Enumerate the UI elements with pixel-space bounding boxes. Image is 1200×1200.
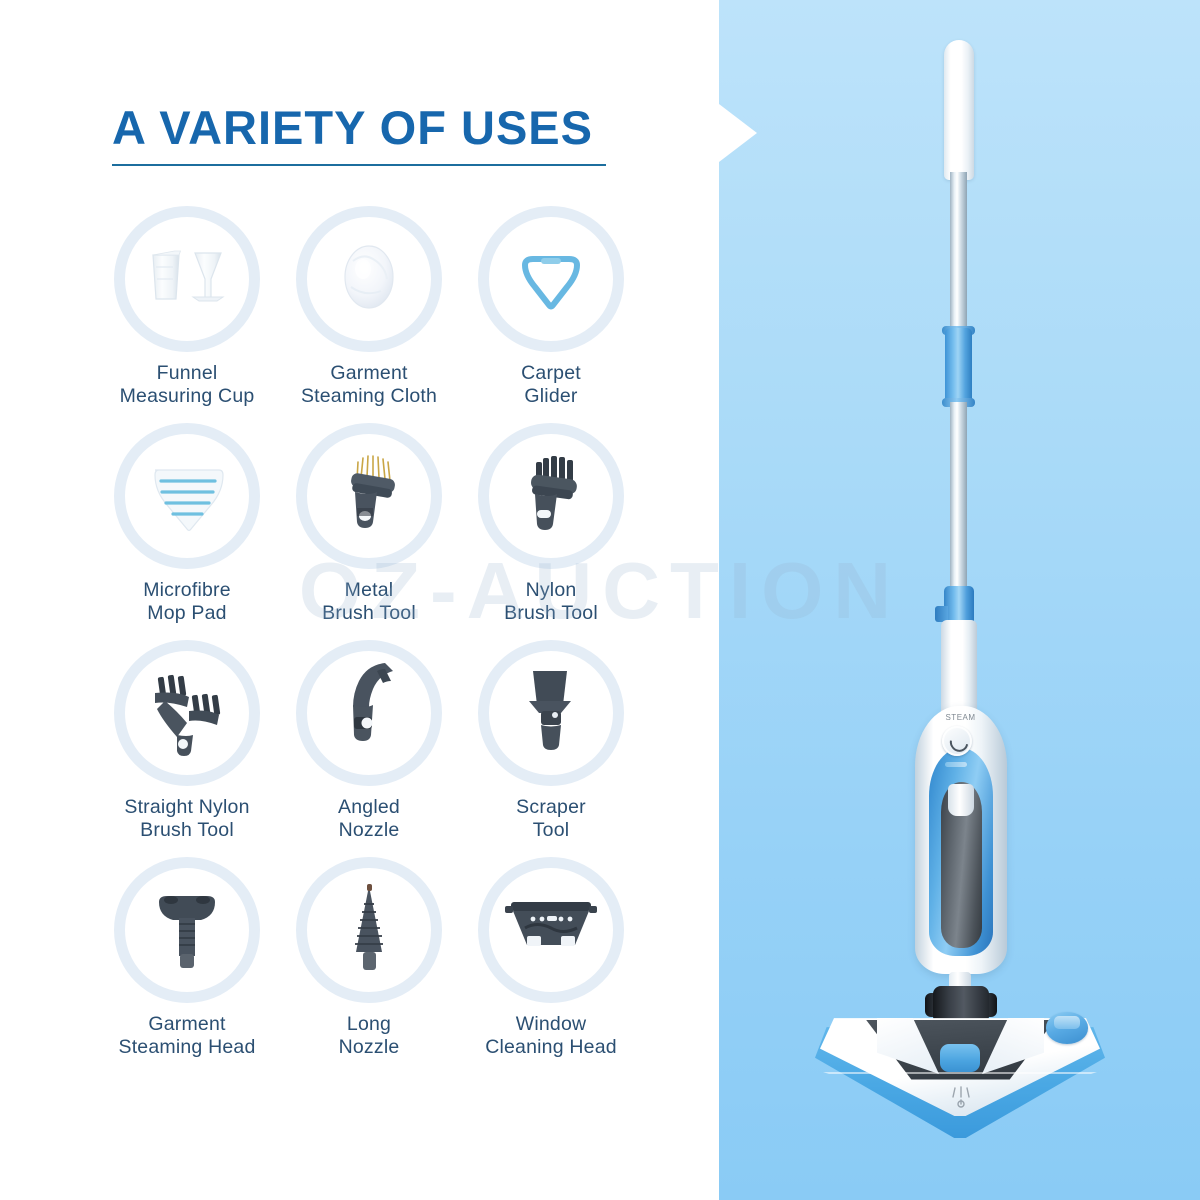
accessory-item-long-nozzle[interactable]: Long Nozzle <box>278 857 460 1059</box>
accessory-label: Angled Nozzle <box>278 796 460 842</box>
steam-mop-product-image: STEAM <box>719 0 1200 1200</box>
brand-logo: STEAM <box>933 712 988 723</box>
microfibre-mop-pad-icon <box>125 434 249 558</box>
accessory-item-garment-steaming-cloth[interactable]: Garment Steaming Cloth <box>278 206 460 408</box>
accessory-circle <box>296 423 442 569</box>
long-nozzle-icon <box>307 868 431 992</box>
accessory-item-garment-steaming-head[interactable]: Garment Steaming Head <box>96 857 278 1059</box>
accessory-label: Funnel Measuring Cup <box>96 362 278 408</box>
accessory-label: Scraper Tool <box>460 796 642 842</box>
accessory-item-carpet-glider[interactable]: Carpet Glider <box>460 206 642 408</box>
accessory-row: Straight Nylon Brush Tool <box>96 640 676 857</box>
garment-steaming-cloth-icon <box>307 217 431 341</box>
accessory-label: Window Cleaning Head <box>460 1013 642 1059</box>
accessory-circle <box>114 857 260 1003</box>
measuring-cup-and-funnel-icon <box>125 217 249 341</box>
accessory-item-straight-nylon-brush-tool[interactable]: Straight Nylon Brush Tool <box>96 640 278 842</box>
accessory-item-funnel-measuring-cup[interactable]: Funnel Measuring Cup <box>96 206 278 408</box>
accessory-label: Nylon Brush Tool <box>460 579 642 625</box>
water-tank-cap[interactable] <box>948 784 974 816</box>
accessory-item-nylon-brush-tool[interactable]: Nylon Brush Tool <box>460 423 642 625</box>
panel-pointer-arrow-icon <box>719 104 757 162</box>
telescopic-pole-upper <box>950 172 967 334</box>
accessory-label: Carpet Glider <box>460 362 642 408</box>
accessory-circle <box>114 640 260 786</box>
title-underline-rule <box>112 164 606 166</box>
accessory-row: Garment Steaming Head <box>96 857 676 1074</box>
garment-steaming-head-icon <box>125 868 249 992</box>
accessory-circle <box>478 206 624 352</box>
status-indicator-light <box>945 762 967 767</box>
accessory-row: Funnel Measuring Cup <box>96 206 676 423</box>
accessory-item-angled-nozzle[interactable]: Angled Nozzle <box>278 640 460 842</box>
mop-head-knob-face <box>1054 1016 1080 1029</box>
accessory-circle <box>296 640 442 786</box>
accessory-grid: Funnel Measuring Cup <box>96 206 676 1074</box>
product-panel: STEAM <box>719 0 1200 1200</box>
accessory-item-microfibre-mop-pad[interactable]: Microfibre Mop Pad <box>96 423 278 625</box>
accessory-label: Garment Steaming Head <box>96 1013 278 1059</box>
page-title: A VARIETY OF USES <box>112 104 593 151</box>
accessory-label: Microfibre Mop Pad <box>96 579 278 625</box>
telescopic-pole-lower <box>950 402 967 592</box>
accessory-item-metal-brush-tool[interactable]: Metal Brush Tool <box>278 423 460 625</box>
accessory-label: Garment Steaming Cloth <box>278 362 460 408</box>
accessory-circle <box>296 206 442 352</box>
accessory-circle <box>478 423 624 569</box>
accessories-panel: A VARIETY OF USES <box>0 0 719 1200</box>
window-cleaning-head-icon <box>489 868 613 992</box>
height-adjust-collar <box>945 328 972 404</box>
metal-brush-tool-icon <box>307 434 431 558</box>
accessory-circle <box>478 857 624 1003</box>
carpet-glider-icon <box>489 217 613 341</box>
accessory-label: Metal Brush Tool <box>278 579 460 625</box>
mop-head-release-button[interactable] <box>940 1044 980 1072</box>
accessory-item-window-cleaning-head[interactable]: Window Cleaning Head <box>460 857 642 1059</box>
accessory-label: Straight Nylon Brush Tool <box>96 796 278 842</box>
infographic-root: A VARIETY OF USES <box>0 0 1200 1200</box>
accessory-circle <box>114 423 260 569</box>
straight-nylon-brush-tool-icon <box>125 651 249 775</box>
nylon-brush-tool-icon <box>489 434 613 558</box>
accessory-circle <box>296 857 442 1003</box>
accessory-item-scraper-tool[interactable]: Scraper Tool <box>460 640 642 842</box>
accessory-row: Microfibre Mop Pad <box>96 423 676 640</box>
accessory-circle <box>114 206 260 352</box>
steam-output-icon <box>950 1086 972 1112</box>
handle-grip <box>944 40 974 180</box>
accessory-label: Long Nozzle <box>278 1013 460 1059</box>
scraper-tool-icon <box>489 651 613 775</box>
accessory-circle <box>478 640 624 786</box>
angled-nozzle-icon <box>307 651 431 775</box>
